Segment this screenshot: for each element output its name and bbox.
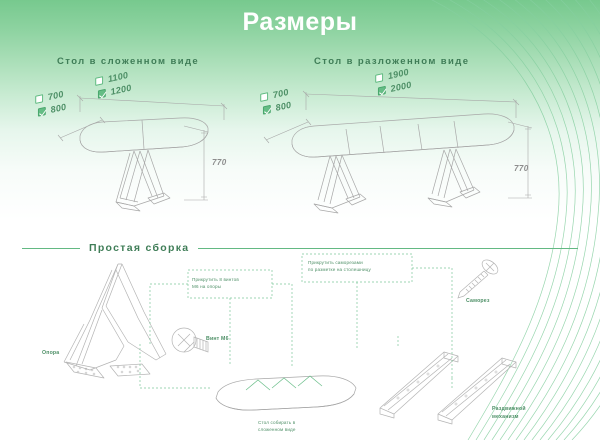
checkbox-checked-icon[interactable]	[263, 105, 271, 115]
option-value: 800	[50, 102, 68, 115]
section-heading-unfolded: Стол в разложенном виде	[314, 56, 469, 67]
checkbox-checked-icon[interactable]	[38, 107, 46, 117]
checkbox-checked-icon[interactable]	[98, 89, 106, 99]
option-value: 700	[47, 89, 65, 102]
checkbox-unchecked-icon[interactable]	[375, 73, 383, 83]
option-value: 700	[272, 87, 290, 100]
folded-height-value: 770	[212, 158, 227, 167]
unfolded-height-value: 770	[514, 164, 529, 173]
option-value: 800	[275, 100, 293, 113]
checkbox-unchecked-icon[interactable]	[260, 92, 268, 102]
checkbox-unchecked-icon[interactable]	[35, 94, 43, 104]
instruction-sheet: Размеры Стол в сложенном виде	[0, 0, 600, 440]
option-value: 2000	[390, 80, 413, 94]
section-heading-folded: Стол в сложенном виде	[57, 56, 199, 67]
unfolded-height-dimension-line	[506, 114, 546, 206]
checkbox-unchecked-icon[interactable]	[95, 76, 103, 86]
option-value: 1200	[110, 83, 133, 97]
note-screws-to-legs: Прикрутить 8 винтов М6 на опоры	[192, 277, 239, 290]
checkbox-checked-icon[interactable]	[378, 86, 386, 96]
note-selftap-to-top: Прикрутить саморезами по разметке на сто…	[308, 260, 371, 273]
assembly-callout-connectors	[0, 248, 600, 440]
page-title: Размеры	[0, 8, 600, 37]
